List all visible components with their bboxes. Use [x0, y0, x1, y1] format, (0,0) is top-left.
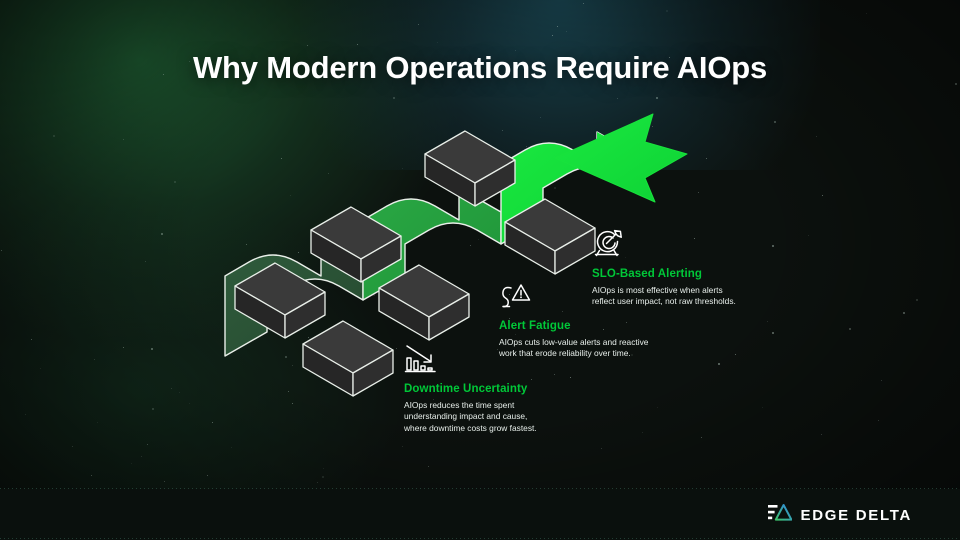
- edge-delta-logo-mark: [768, 503, 792, 527]
- slide-canvas: Why Modern Operations Require AIOps: [0, 0, 960, 540]
- footer-divider-bottom: [0, 538, 960, 539]
- callout-body: AIOps reduces the time spent understandi…: [404, 400, 614, 434]
- callout-body: AIOps cuts low-value alerts and reactive…: [499, 337, 714, 360]
- callout-slo-based-alerting: SLO-Based Alerting AIOps is most effecti…: [592, 229, 807, 308]
- iso-block-2: [303, 321, 393, 396]
- callout-heading: SLO-Based Alerting: [592, 268, 807, 280]
- target-arrow-icon: [592, 229, 807, 264]
- page-title: Why Modern Operations Require AIOps: [0, 50, 960, 86]
- callout-heading: Alert Fatigue: [499, 320, 714, 332]
- edge-delta-logo-text: EDGE DELTA: [801, 507, 912, 524]
- iso-arrow-head: [555, 110, 687, 202]
- callout-body: AIOps is most effective when alerts refl…: [592, 285, 807, 308]
- callout-heading: Downtime Uncertainty: [404, 383, 614, 395]
- footer-divider-top: [0, 488, 960, 489]
- edge-delta-logo: EDGE DELTA: [768, 503, 912, 527]
